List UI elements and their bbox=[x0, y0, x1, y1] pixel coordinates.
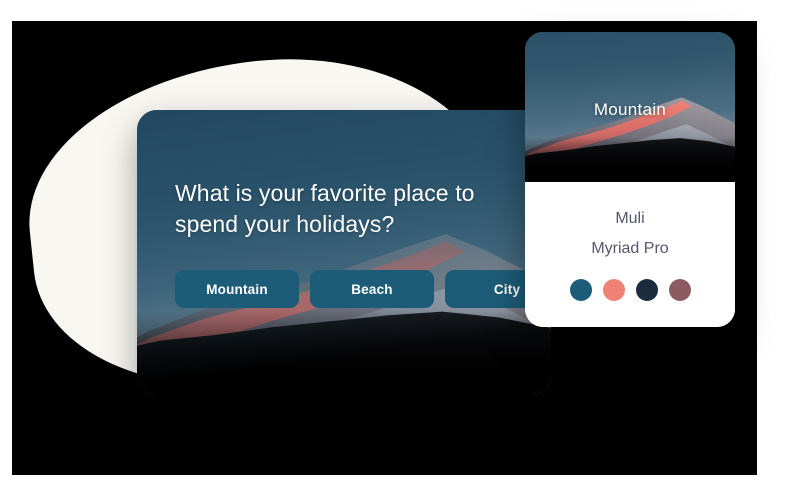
photo-bottom-gradient bbox=[137, 310, 551, 396]
font-name-primary: Muli bbox=[525, 204, 735, 234]
preview-card-body: Muli Myriad Pro bbox=[525, 182, 735, 327]
swatch-teal[interactable] bbox=[570, 279, 592, 301]
swatch-salmon[interactable] bbox=[603, 279, 625, 301]
theme-preview-card: Mountain Muli Myriad Pro bbox=[525, 32, 735, 327]
choice-button-mountain[interactable]: Mountain bbox=[175, 270, 299, 308]
color-swatch-row bbox=[525, 279, 735, 301]
question-text: What is your favorite place to spend you… bbox=[175, 178, 535, 240]
question-card-photo bbox=[137, 110, 551, 395]
choice-button-beach[interactable]: Beach bbox=[310, 270, 434, 308]
swatch-mauve[interactable] bbox=[669, 279, 691, 301]
swatch-navy[interactable] bbox=[636, 279, 658, 301]
preview-hero-image: Mountain bbox=[525, 32, 735, 182]
screenshot-stage: What is your favorite place to spend you… bbox=[0, 0, 788, 504]
preview-hero-label: Mountain bbox=[525, 100, 735, 120]
question-card: What is your favorite place to spend you… bbox=[137, 110, 551, 395]
choice-button-row: Mountain Beach City bbox=[175, 270, 551, 308]
font-name-secondary: Myriad Pro bbox=[525, 234, 735, 264]
preview-photo-bottom-gradient bbox=[525, 137, 735, 182]
